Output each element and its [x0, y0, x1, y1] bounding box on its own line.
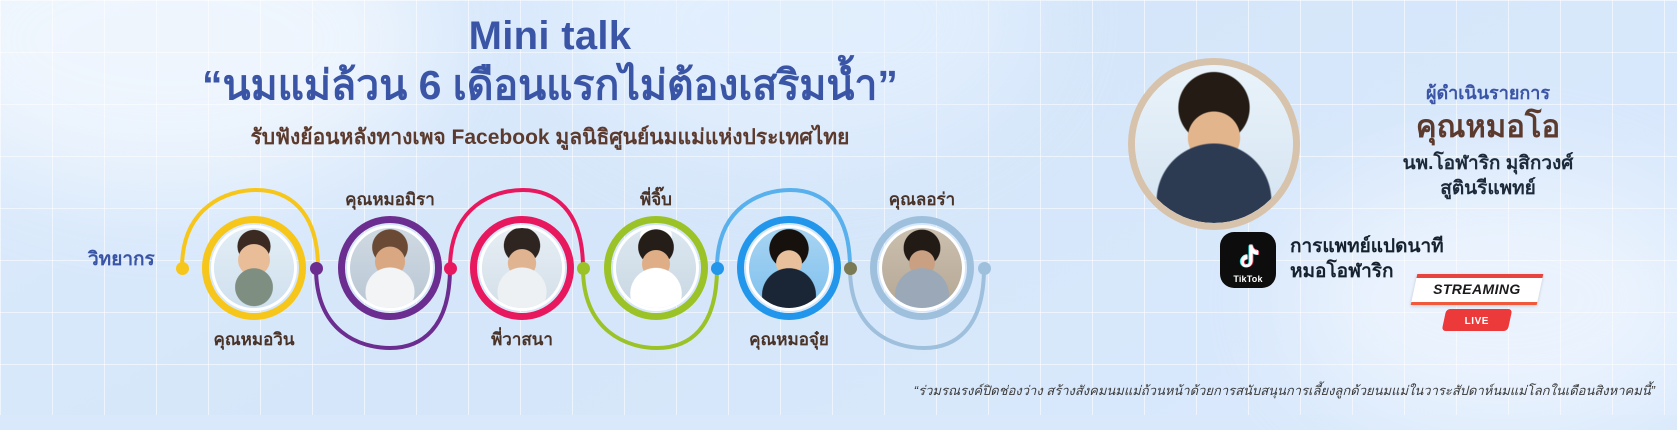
- speaker-avatar: [214, 228, 294, 308]
- title-quote: “นมแม่ล้วน 6 เดือนแรกไม่ต้องเสริมน้ำ”: [0, 61, 1100, 109]
- speaker-node[interactable]: พี่จิ๊บ: [604, 216, 708, 320]
- speaker-name: พี่วาสนา: [412, 326, 632, 353]
- subtitle: รับฟังย้อนหลังทางเพจ Facebook มูลนิธิศูน…: [0, 121, 1100, 154]
- host-role: ผู้ดำเนินรายการ: [1313, 78, 1663, 107]
- tiktok-icon[interactable]: TikTok: [1220, 232, 1276, 288]
- streaming-label-wrap: STREAMING: [1411, 274, 1544, 305]
- speaker-node[interactable]: คุณหมอวิน: [202, 216, 306, 320]
- live-label: LIVE: [1465, 316, 1489, 327]
- host-nickname: คุณหมอโอ: [1313, 109, 1663, 145]
- page-title: Mini talk: [0, 14, 1100, 59]
- channel-line-1: การแพทย์แปดนาที: [1290, 235, 1444, 260]
- host-fullname: นพ.โอฬาริก มุสิกวงศ์: [1313, 151, 1663, 177]
- host-specialty: สูตินรีแพทย์: [1313, 176, 1663, 202]
- speaker-name: คุณลอร่า: [812, 186, 1032, 213]
- speaker-node[interactable]: คุณหมอมิรา: [338, 216, 442, 320]
- speaker-avatar: [749, 228, 829, 308]
- speaker-name: คุณหมอจุ๋ย: [679, 326, 899, 353]
- speaker-timeline: คุณหมอวิน คุณหมอมิรา พี่วาสนา พี่จิ๊บ: [0, 180, 1060, 355]
- timeline-dot: [711, 262, 724, 275]
- speaker-node[interactable]: พี่วาสนา: [470, 216, 574, 320]
- host-avatar: [1128, 58, 1300, 230]
- speaker-avatar: [482, 228, 562, 308]
- poster-canvas: Mini talk “นมแม่ล้วน 6 เดือนแรกไม่ต้องเส…: [0, 0, 1677, 415]
- footer-caption: “ร่วมรณรงค์ปิดช่องว่าง สร้างสังคมนมแม่ถ้…: [0, 380, 1655, 401]
- header-block: Mini talk “นมแม่ล้วน 6 เดือนแรกไม่ต้องเส…: [0, 14, 1100, 154]
- timeline-dot: [176, 262, 189, 275]
- timeline-dot: [978, 262, 991, 275]
- tiktok-channel[interactable]: TikTok การแพทย์แปดนาที หมอโอฬาริก: [1220, 232, 1444, 288]
- speaker-name: คุณหมอวิน: [144, 326, 364, 353]
- live-pill: LIVE: [1442, 309, 1513, 331]
- speaker-node[interactable]: คุณหมอจุ๋ย: [737, 216, 841, 320]
- timeline-dot: [577, 262, 590, 275]
- streaming-badge: STREAMING LIVE: [1414, 274, 1540, 331]
- timeline-dot: [310, 262, 323, 275]
- speaker-node[interactable]: คุณลอร่า: [870, 216, 974, 320]
- speaker-avatar: [882, 228, 962, 308]
- tiktok-wordmark: TikTok: [1220, 274, 1276, 284]
- speaker-name: คุณหมอมิรา: [280, 186, 500, 213]
- speaker-name: พี่จิ๊บ: [546, 186, 766, 213]
- host-panel: ผู้ดำเนินรายการ คุณหมอโอ นพ.โอฬาริก มุสิ…: [1128, 46, 1668, 366]
- timeline-dot: [844, 262, 857, 275]
- timeline-dot: [444, 262, 457, 275]
- speaker-avatar: [350, 228, 430, 308]
- host-info: ผู้ดำเนินรายการ คุณหมอโอ นพ.โอฬาริก มุสิ…: [1313, 78, 1663, 202]
- streaming-label: STREAMING: [1433, 281, 1521, 297]
- speaker-avatar: [616, 228, 696, 308]
